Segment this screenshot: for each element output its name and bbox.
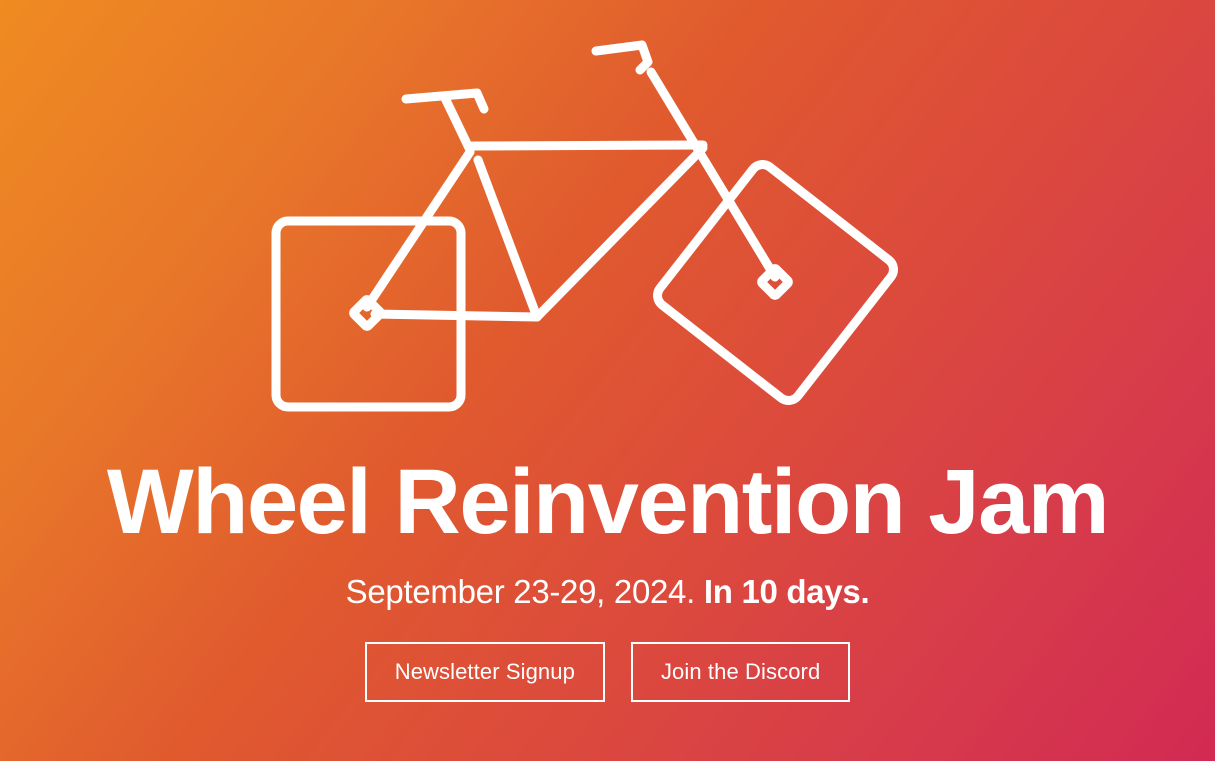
newsletter-signup-button[interactable]: Newsletter Signup xyxy=(365,642,605,702)
seat-tube xyxy=(651,72,775,277)
front-square-wheel xyxy=(276,221,461,407)
join-discord-button[interactable]: Join the Discord xyxy=(631,642,850,702)
head-tube xyxy=(445,98,470,150)
front-hub-diamond xyxy=(353,299,381,327)
rear-hub-diamond xyxy=(761,268,789,296)
front-fork xyxy=(367,152,470,307)
hero-page: Wheel Reinvention Jam September 23-29, 2… xyxy=(0,0,1215,761)
page-title: Wheel Reinvention Jam xyxy=(0,440,1215,548)
square-wheeled-bicycle-illustration xyxy=(0,0,1215,440)
handlebar xyxy=(406,93,484,109)
event-dates: September 23-29, 2024. xyxy=(346,573,695,610)
chainstay xyxy=(375,314,537,317)
event-dates-subtitle: September 23-29, 2024. In 10 days. xyxy=(0,548,1215,610)
cta-button-row: Newsletter Signup Join the Discord xyxy=(0,610,1215,702)
down-tube xyxy=(478,160,537,317)
hero-text-block: Wheel Reinvention Jam September 23-29, 2… xyxy=(0,440,1215,702)
countdown-text: In 10 days. xyxy=(704,573,869,610)
seat xyxy=(596,45,648,70)
top-tube xyxy=(472,145,703,146)
rear-square-wheel xyxy=(653,160,899,406)
seat-stay xyxy=(537,148,703,317)
